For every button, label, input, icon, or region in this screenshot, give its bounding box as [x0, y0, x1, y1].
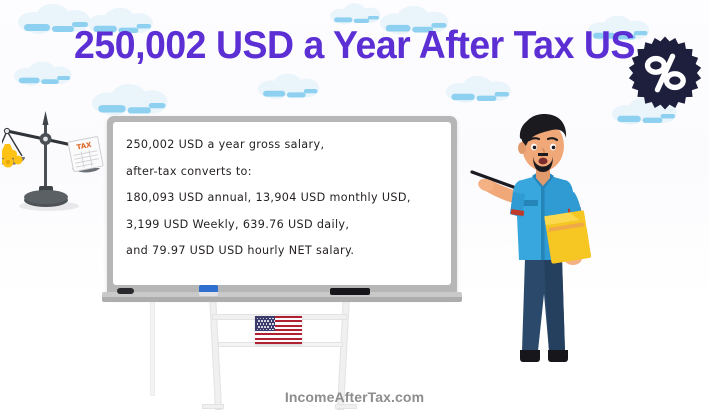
- whiteboard-frame: 250,002 USD a year gross salary, after-t…: [107, 116, 457, 298]
- flag-star: [274, 326, 276, 328]
- infographic-canvas: 250,002 USD a Year After Tax US: [0, 0, 709, 419]
- flag-star: [274, 320, 276, 322]
- flag-star: [271, 326, 273, 328]
- balance-scale-illustration: TAX: [2, 108, 107, 213]
- flag-star: [261, 320, 263, 322]
- flag-stripe: [255, 342, 302, 344]
- flag-star: [258, 326, 260, 328]
- cloud-icon: [330, 2, 383, 26]
- whiteboard-line-3: 180,093 USD annual, 13,904 USD monthly U…: [126, 185, 446, 212]
- presenter-illustration: [470, 108, 635, 373]
- flag-star: [261, 326, 263, 328]
- whiteboard-tray: [102, 292, 462, 301]
- flag-star: [269, 318, 271, 320]
- flag-star: [272, 323, 274, 325]
- percent-badge-icon: [627, 35, 703, 111]
- flag-star: [272, 318, 274, 320]
- whiteboard-text: 250,002 USD a year gross salary, after-t…: [126, 132, 446, 265]
- flag-star: [258, 320, 260, 322]
- whiteboard-line-2: after-tax converts to:: [126, 159, 446, 186]
- whiteboard-surface: 250,002 USD a year gross salary, after-t…: [113, 122, 451, 285]
- flag-star: [267, 320, 269, 322]
- blue-eraser-icon: [199, 285, 218, 295]
- whiteboard-line-5: and 79.97 USD USD hourly NET salary.: [126, 238, 446, 265]
- flag-star: [257, 323, 259, 325]
- whiteboard: 250,002 USD a year gross salary, after-t…: [107, 116, 457, 298]
- whiteboard-line-1: 250,002 USD a year gross salary,: [126, 132, 446, 159]
- flag-star: [264, 320, 266, 322]
- cloud-icon: [258, 72, 323, 101]
- dark-marker-icon: [330, 288, 370, 295]
- cloud-icon: [446, 74, 514, 105]
- easel-leg-back: [150, 296, 155, 396]
- flag-star: [269, 323, 271, 325]
- whiteboard-line-4: 3,199 USD Weekly, 639.76 USD daily,: [126, 212, 446, 239]
- us-flag-icon: [255, 316, 302, 344]
- black-marker-icon: [117, 288, 134, 294]
- site-footer: IncomeAfterTax.com: [0, 389, 709, 405]
- flag-star: [271, 320, 273, 322]
- flag-star: [267, 326, 269, 328]
- page-title: 250,002 USD a Year After Tax US: [14, 24, 695, 68]
- flag-star: [264, 326, 266, 328]
